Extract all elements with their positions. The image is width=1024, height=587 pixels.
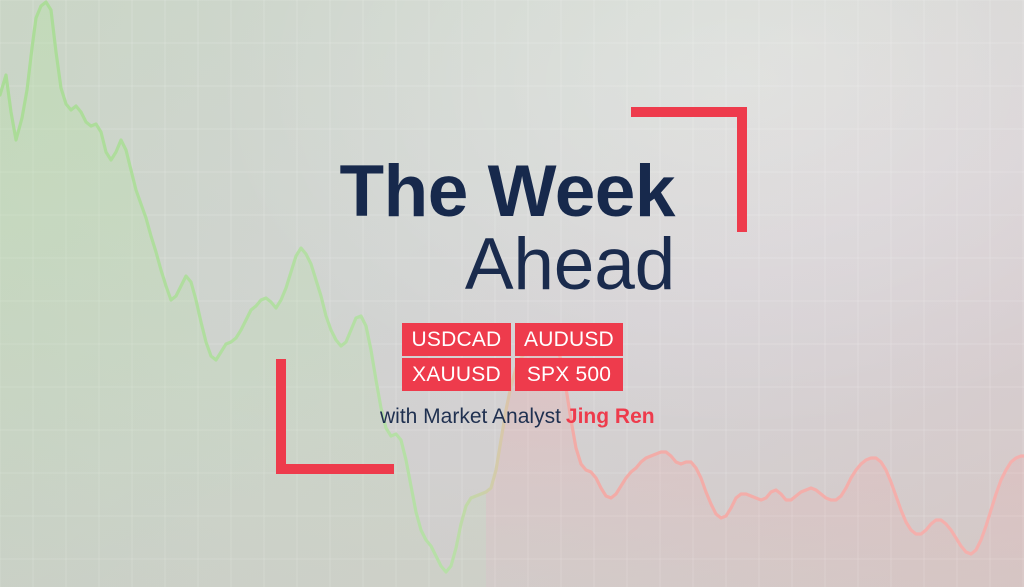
instrument-tag-grid: USDCAD AUDUSD XAUUSD SPX 500: [402, 323, 623, 391]
bracket-horizontal-bar: [276, 464, 394, 474]
instrument-tag-audusd[interactable]: AUDUSD: [515, 323, 623, 356]
instrument-tag-spx500[interactable]: SPX 500: [515, 358, 623, 391]
page-title: The Week Ahead: [200, 158, 675, 303]
corner-bracket-bottom-left: [276, 359, 394, 474]
title-line-secondary: Ahead: [200, 227, 675, 304]
bracket-horizontal-bar: [631, 107, 747, 117]
instrument-tag-usdcad[interactable]: USDCAD: [402, 323, 511, 356]
week-ahead-promo-graphic: The Week Ahead USDCAD AUDUSD XAUUSD SPX …: [0, 0, 1024, 587]
byline: with Market AnalystJing Ren: [380, 404, 655, 429]
byline-host-name: Jing Ren: [566, 405, 655, 428]
bracket-vertical-bar: [737, 107, 747, 232]
byline-prefix: with Market Analyst: [380, 405, 561, 428]
instrument-tag-xauusd[interactable]: XAUUSD: [402, 358, 511, 391]
bracket-vertical-bar: [276, 359, 286, 474]
title-line-primary: The Week: [200, 158, 675, 227]
